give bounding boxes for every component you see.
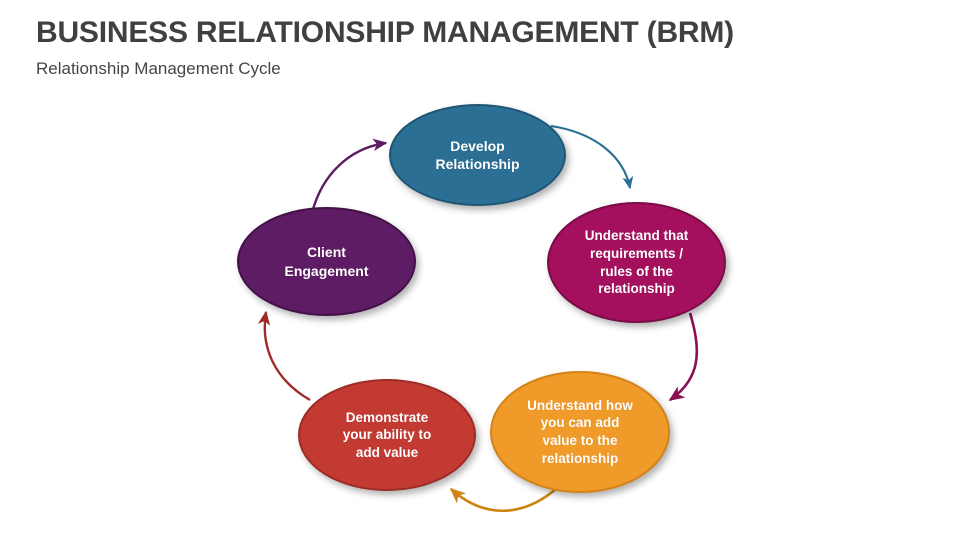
arrow-demonstrate-to-engagement <box>265 312 310 400</box>
arrow-layer <box>0 0 960 540</box>
cycle-node-label: Develop Relationship <box>421 137 533 173</box>
slide-canvas: BUSINESS RELATIONSHIP MANAGEMENT (BRM) R… <box>0 0 960 540</box>
cycle-node-understand-value[interactable]: Understand how you can add value to the … <box>490 371 670 493</box>
cycle-node-client-engagement[interactable]: Client Engagement <box>237 207 416 316</box>
cycle-node-label: Understand how you can add value to the … <box>513 397 647 467</box>
arrow-requirements-to-value <box>670 313 697 400</box>
cycle-node-label: Understand that requirements / rules of … <box>571 227 703 297</box>
relationship-management-cycle-diagram: Develop Relationship Understand that req… <box>0 0 960 540</box>
cycle-node-understand-requirements[interactable]: Understand that requirements / rules of … <box>547 202 726 323</box>
cycle-node-develop-relationship[interactable]: Develop Relationship <box>389 104 566 206</box>
cycle-node-demonstrate-value[interactable]: Demonstrate your ability to add value <box>298 379 476 491</box>
arrow-value-to-demonstrate <box>451 489 556 511</box>
arrow-engagement-to-develop <box>312 143 386 213</box>
cycle-node-label: Client Engagement <box>270 243 382 279</box>
cycle-node-label: Demonstrate your ability to add value <box>329 409 446 462</box>
